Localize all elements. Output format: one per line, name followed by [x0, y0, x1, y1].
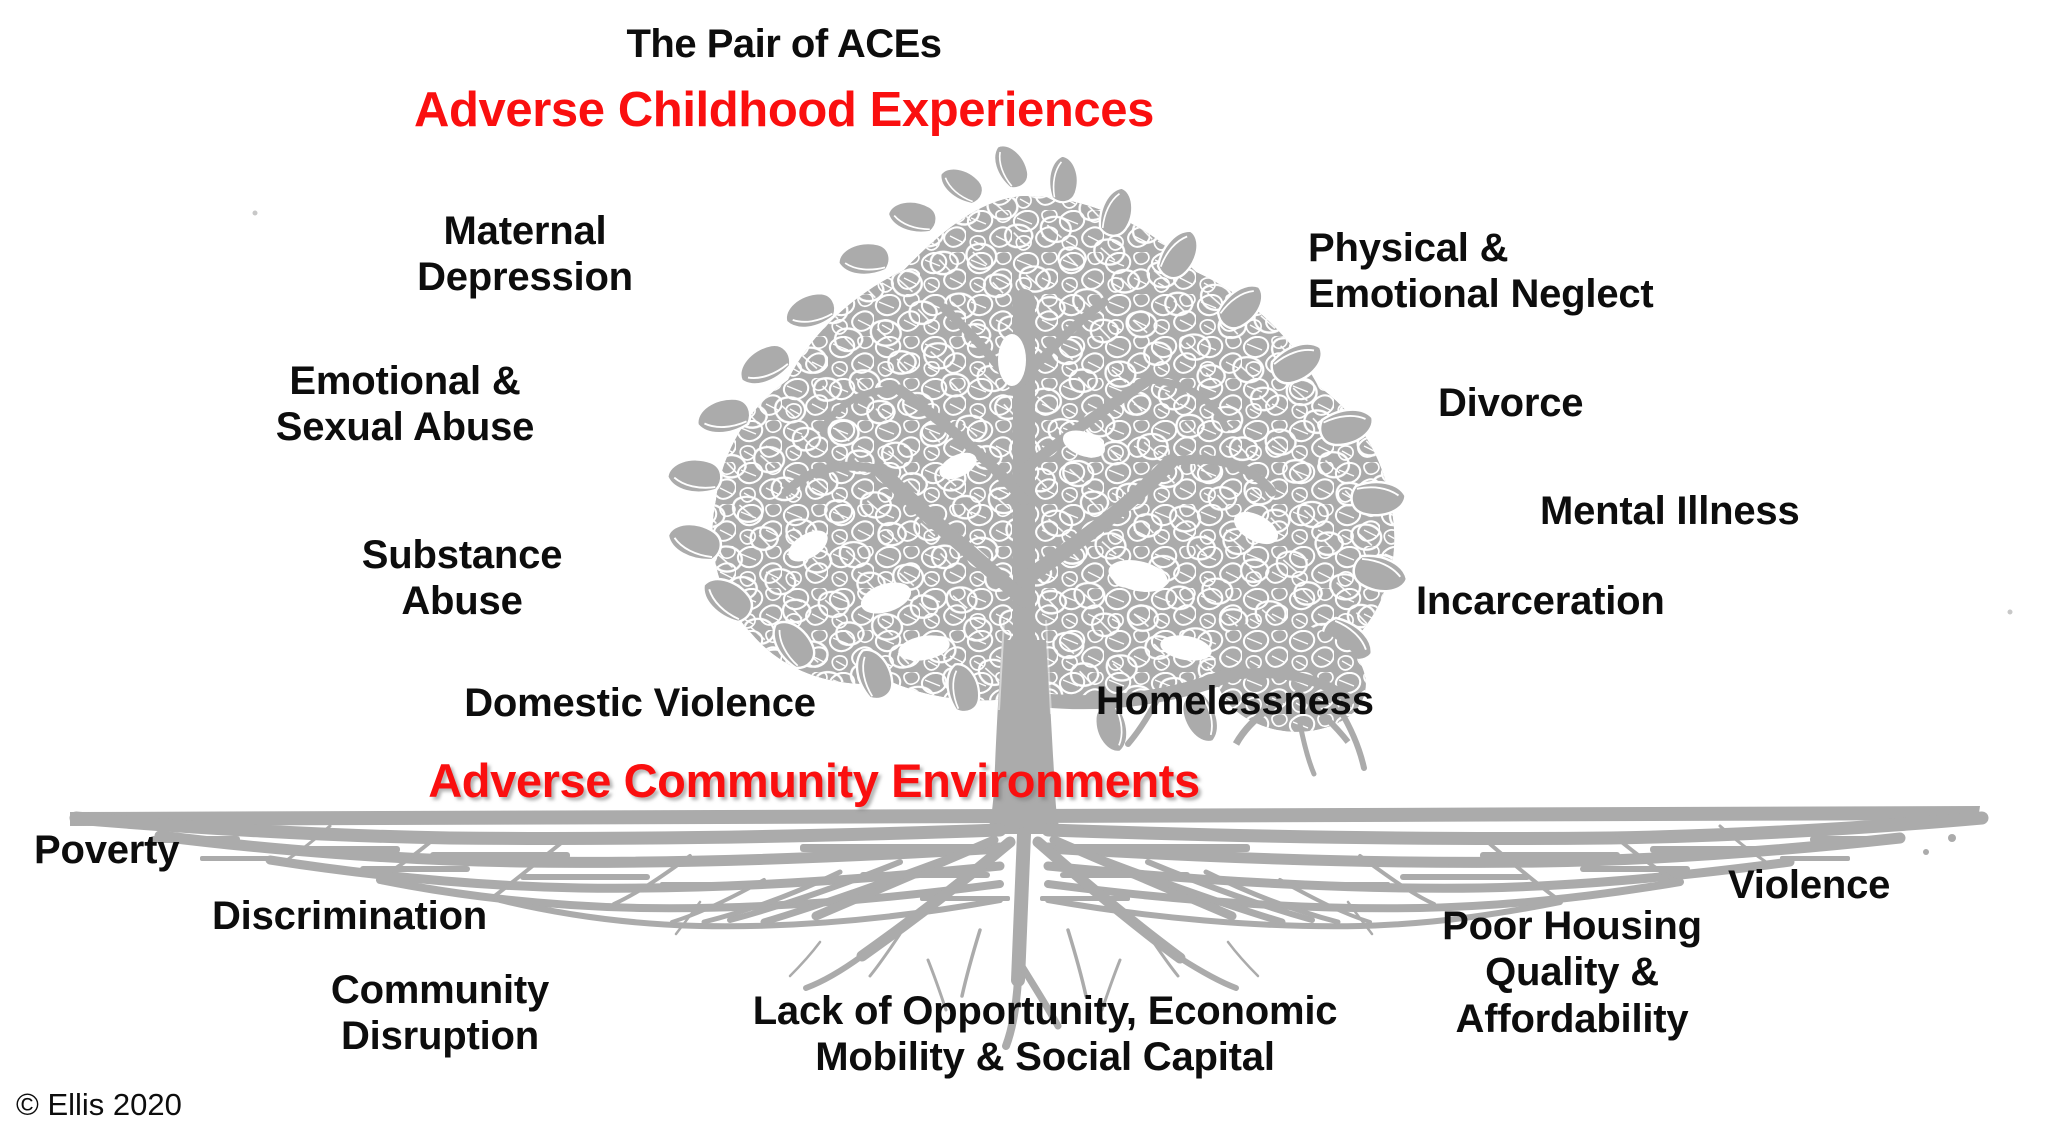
heading-adverse-community-environments: Adverse Community Environments: [0, 753, 1838, 808]
page-title: The Pair of ACEs: [0, 22, 1808, 67]
label-domestic-violence: Domestic Violence: [440, 680, 840, 726]
copyright-notice: © Ellis 2020: [16, 1087, 182, 1123]
label-discrimination: Discrimination: [212, 893, 552, 939]
label-substance-abuse: Substance Abuse: [332, 532, 592, 625]
label-poverty: Poverty: [34, 827, 274, 873]
label-poor-housing: Poor Housing Quality & Affordability: [1412, 903, 1732, 1042]
label-incarceration: Incarceration: [1416, 578, 1796, 624]
label-maternal-depression: Maternal Depression: [385, 208, 665, 301]
label-homelessness: Homelessness: [1096, 678, 1436, 724]
label-divorce: Divorce: [1438, 380, 1738, 426]
label-emotional-sexual-abuse: Emotional & Sexual Abuse: [240, 358, 570, 451]
pair-of-aces-poster: The Pair of ACEs Adverse Childhood Exper…: [0, 0, 2048, 1146]
label-community-disruption: Community Disruption: [290, 967, 590, 1060]
heading-adverse-childhood-experiences: Adverse Childhood Experiences: [0, 82, 1808, 138]
label-physical-emotional-neglect: Physical & Emotional Neglect: [1308, 225, 1748, 318]
label-lack-of-opportunity: Lack of Opportunity, Economic Mobility &…: [700, 988, 1390, 1081]
label-violence: Violence: [1728, 862, 2008, 908]
label-mental-illness: Mental Illness: [1540, 488, 1900, 534]
